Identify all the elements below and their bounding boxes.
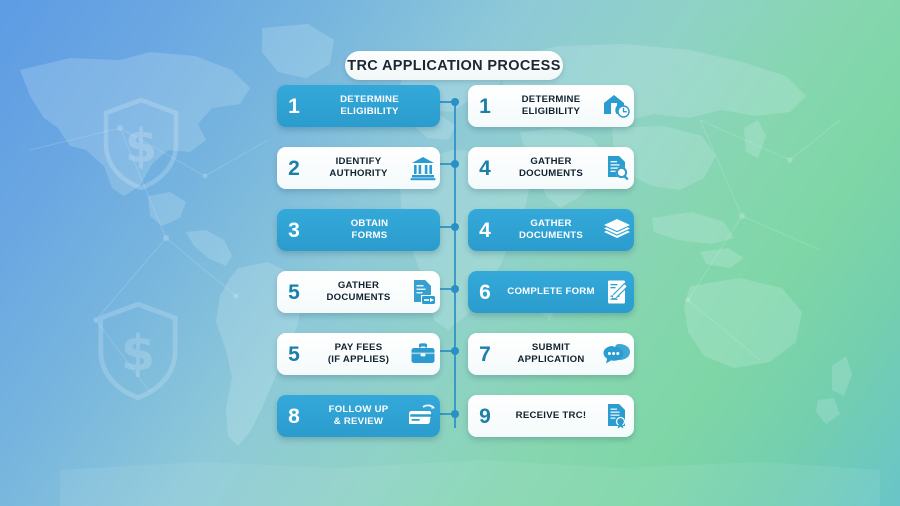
certificate-icon: [600, 403, 634, 429]
step-label-line2: ELIGIBILITY: [340, 106, 398, 117]
step-label: GATHER DOCUMENTS: [311, 280, 406, 303]
step-card-right-4[interactable]: 6 COMPLETE FORM: [468, 271, 634, 313]
step-number: 4: [468, 220, 502, 241]
step-label-line2: APPLICATION: [517, 354, 584, 365]
connector-rail: [438, 90, 464, 440]
step-label: PAY FEES (IF APPLIES): [311, 342, 406, 365]
briefcase-icon: [406, 341, 440, 367]
step-card-left-6[interactable]: 8 FOLLOW UP & REVIEW: [277, 395, 440, 437]
step-card-right-2[interactable]: 4 GATHER DOCUMENTS: [468, 147, 634, 189]
step-label-line1: GATHER: [530, 218, 571, 229]
step-label-line1: DETERMINE: [340, 94, 399, 105]
step-label-line2: DOCUMENTS: [326, 292, 390, 303]
step-label-line1: OBTAIN: [351, 218, 389, 229]
step-number: 9: [468, 406, 502, 427]
form-pen-icon: [600, 279, 634, 305]
step-label: DETERMINE ELIGIBILITY: [311, 94, 428, 117]
step-label-line2: ELIGIBILITY: [522, 106, 580, 117]
step-label: GATHER DOCUMENTS: [502, 218, 600, 241]
page-title-text: TRC APPLICATION PROCESS: [347, 58, 560, 74]
step-label: SUBMIT APPLICATION: [502, 342, 600, 365]
step-label-line2: & REVIEW: [334, 416, 383, 427]
step-number: 5: [277, 344, 311, 365]
step-card-left-3[interactable]: 3 OBTAIN FORMS: [277, 209, 440, 251]
step-number: 8: [277, 406, 311, 427]
step-label: COMPLETE FORM: [502, 286, 600, 298]
step-label-line1: COMPLETE FORM: [507, 286, 594, 297]
step-label-line2: AUTHORITY: [329, 168, 387, 179]
step-number: 3: [277, 220, 311, 241]
step-label: RECEIVE TRC!: [502, 410, 600, 422]
step-number: 1: [277, 96, 311, 117]
step-label: DETERMINE ELIGIBILITY: [502, 94, 600, 117]
step-card-right-5[interactable]: 7 SUBMIT APPLICATION: [468, 333, 634, 375]
infographic-canvas: $ $ TRC APPLICATION PROCESS: [0, 0, 900, 506]
step-card-right-6[interactable]: 9 RECEIVE TRC!: [468, 395, 634, 437]
step-card-left-5[interactable]: 5 PAY FEES (IF APPLIES): [277, 333, 440, 375]
step-label: OBTAIN FORMS: [311, 218, 428, 241]
document-search-icon: [600, 155, 634, 181]
chat-bubble-icon: [600, 342, 634, 366]
step-number: 1: [468, 96, 502, 117]
step-label-line2: DOCUMENTS: [519, 168, 583, 179]
step-number: 4: [468, 158, 502, 179]
step-label: IDENTIFY AUTHORITY: [311, 156, 406, 179]
step-label-line2: DOCUMENTS: [519, 230, 583, 241]
document-share-icon: [406, 279, 440, 305]
step-number: 6: [468, 282, 502, 303]
right-step-column: 1 DETERMINE ELIGIBILITY 4: [468, 85, 634, 457]
credit-card-icon: [406, 403, 440, 429]
layers-icon: [600, 218, 634, 242]
step-label-line1: FOLLOW UP: [329, 404, 389, 415]
step-label-line1: GATHER: [338, 280, 379, 291]
page-title: TRC APPLICATION PROCESS: [345, 51, 563, 80]
step-label-line1: PAY FEES: [335, 342, 383, 353]
step-card-right-3[interactable]: 4 GATHER DOCUMENTS: [468, 209, 634, 251]
step-card-left-4[interactable]: 5 GATHER DOCUMENTS: [277, 271, 440, 313]
step-number: 2: [277, 158, 311, 179]
step-label: GATHER DOCUMENTS: [502, 156, 600, 179]
step-card-right-1[interactable]: 1 DETERMINE ELIGIBILITY: [468, 85, 634, 127]
step-label-line2: FORMS: [352, 230, 388, 241]
step-label-line1: RECEIVE TRC!: [516, 410, 587, 421]
step-card-left-1[interactable]: 1 DETERMINE ELIGIBILITY: [277, 85, 440, 127]
step-label-line1: DETERMINE: [522, 94, 581, 105]
step-label-line2: (IF APPLIES): [328, 354, 389, 365]
step-number: 7: [468, 344, 502, 365]
house-clock-icon: [600, 93, 634, 119]
step-label: FOLLOW UP & REVIEW: [311, 404, 406, 427]
bank-icon: [406, 155, 440, 181]
step-label-line1: SUBMIT: [532, 342, 570, 353]
step-label-line1: GATHER: [530, 156, 571, 167]
step-label-line1: IDENTIFY: [336, 156, 382, 167]
left-step-column: 1 DETERMINE ELIGIBILITY 2 IDENTIFY AUTHO…: [277, 85, 440, 457]
step-card-left-2[interactable]: 2 IDENTIFY AUTHORITY: [277, 147, 440, 189]
step-number: 5: [277, 282, 311, 303]
